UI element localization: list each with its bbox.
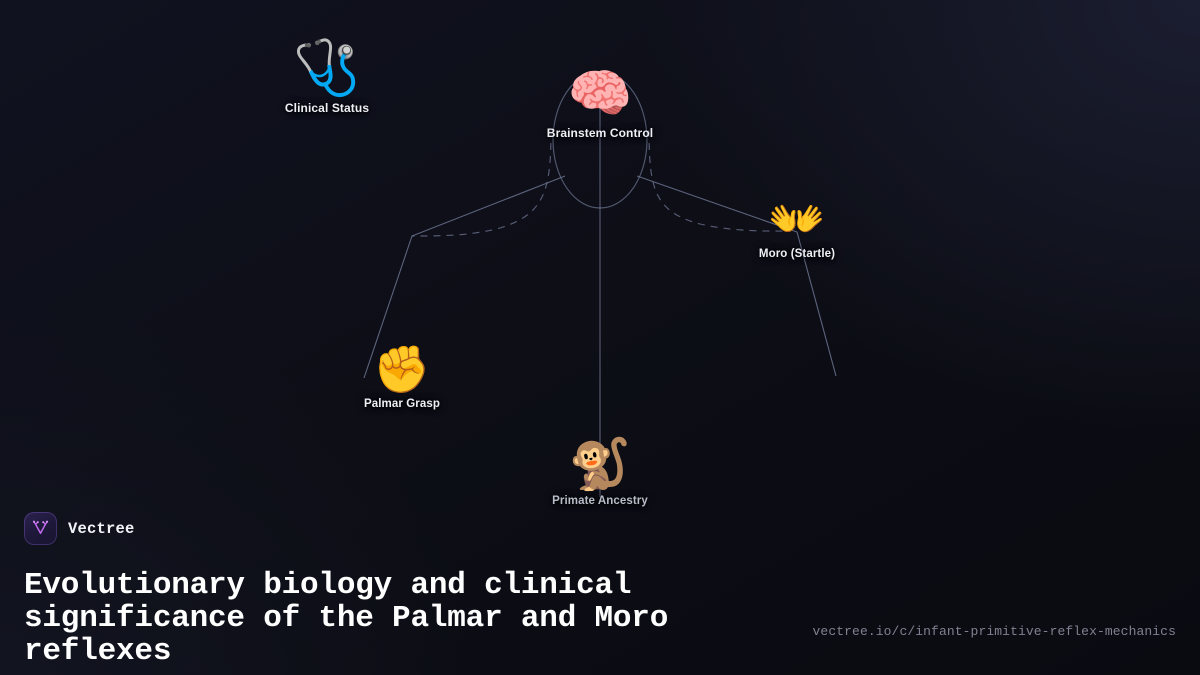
node-primate-ancestry[interactable]: 🐒 Primate Ancestry [552,439,648,507]
raised-fist-icon: ✊ [373,346,430,392]
node-label-moro-startle: Moro (Startle) [759,248,835,260]
node-label-clinical-status: Clinical Status [285,101,369,115]
brand-lockup: Vectree [24,512,135,545]
page-title: Evolutionary biology and clinical signif… [24,569,814,668]
edge-dashed-left [412,130,551,236]
open-hands-icon: 👐 [768,196,825,242]
node-clinical-status[interactable]: 🩺 Clinical Status [285,41,369,115]
stethoscope-icon: 🩺 [293,41,360,95]
monkey-icon: 🐒 [569,439,631,489]
vectree-logo-glyph [30,518,51,539]
node-label-primate-ancestry: Primate Ancestry [552,495,648,507]
vectree-logo-icon [24,512,57,545]
node-palmar-grasp[interactable]: ✊ Palmar Grasp [364,346,440,410]
brain-icon: 🧠 [568,68,633,120]
brand-name: Vectree [68,520,135,538]
node-brainstem-control[interactable]: 🧠 Brainstem Control [547,68,653,140]
source-url: vectree.io/c/infant-primitive-reflex-mec… [813,624,1176,639]
node-moro-startle[interactable]: 👐 Moro (Startle) [759,196,835,260]
slide-canvas: 🩺 Clinical Status 🧠 Brainstem Control 👐 … [0,0,1200,675]
node-label-brainstem-control: Brainstem Control [547,126,653,140]
node-label-palmar-grasp: Palmar Grasp [364,398,440,410]
